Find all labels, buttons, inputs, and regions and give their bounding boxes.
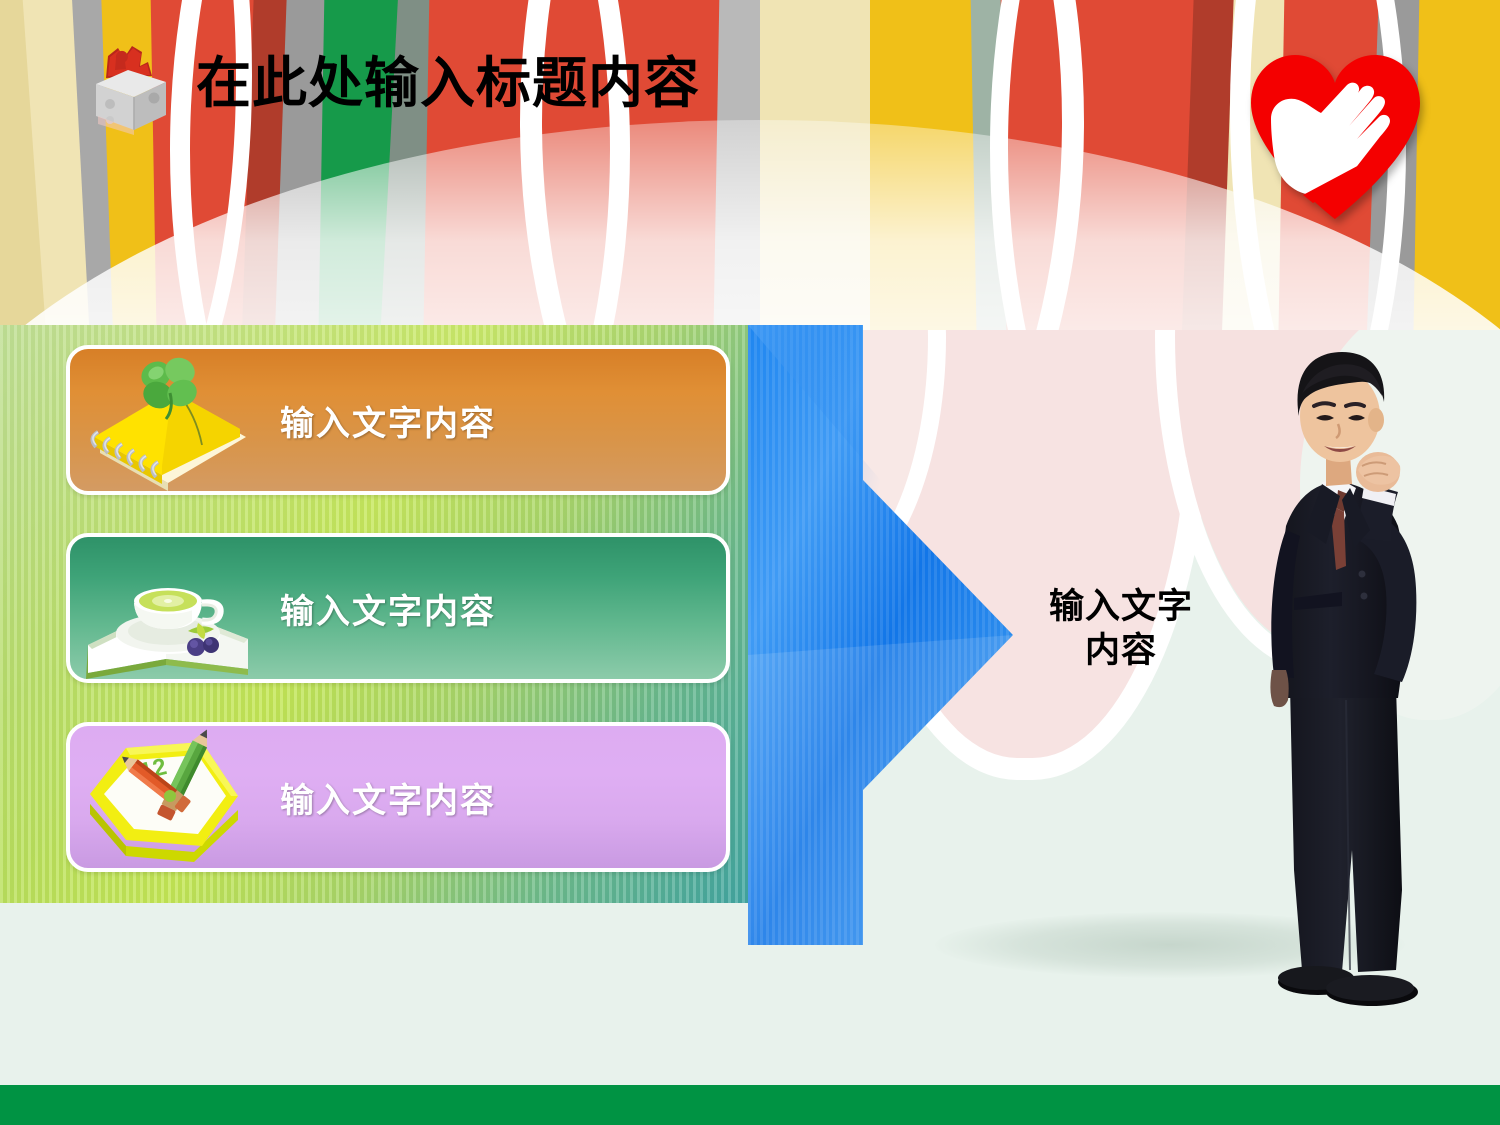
callout-line-1: 输入文字 — [1030, 585, 1212, 629]
notebook-clover-icon — [70, 345, 270, 495]
callout-line-2: 内容 — [1030, 629, 1212, 673]
puzzle-cube-icon — [88, 36, 174, 136]
page-title: 在此处输入标题内容 — [196, 56, 700, 111]
teacup-book-icon — [70, 533, 270, 683]
content-box-label: 输入文字内容 — [280, 396, 496, 445]
content-box-2[interactable]: 输入文字内容 — [66, 533, 730, 683]
businessman-photo — [1246, 330, 1496, 1030]
callout-text: 输入文字 内容 — [1030, 585, 1212, 673]
slide-canvas: 在此处输入标题内容 — [0, 0, 1500, 1125]
content-box-3[interactable]: 12 — [66, 722, 730, 872]
hexagon-clock-pencils-icon: 12 — [70, 722, 270, 872]
footer-bar — [0, 1085, 1500, 1125]
content-box-label: 输入文字内容 — [280, 584, 496, 633]
heart-hand-icon — [1243, 47, 1428, 222]
content-box-1[interactable]: 输入文字内容 — [66, 345, 730, 495]
content-box-label: 输入文字内容 — [280, 773, 496, 822]
right-arrow-icon — [748, 325, 1013, 945]
